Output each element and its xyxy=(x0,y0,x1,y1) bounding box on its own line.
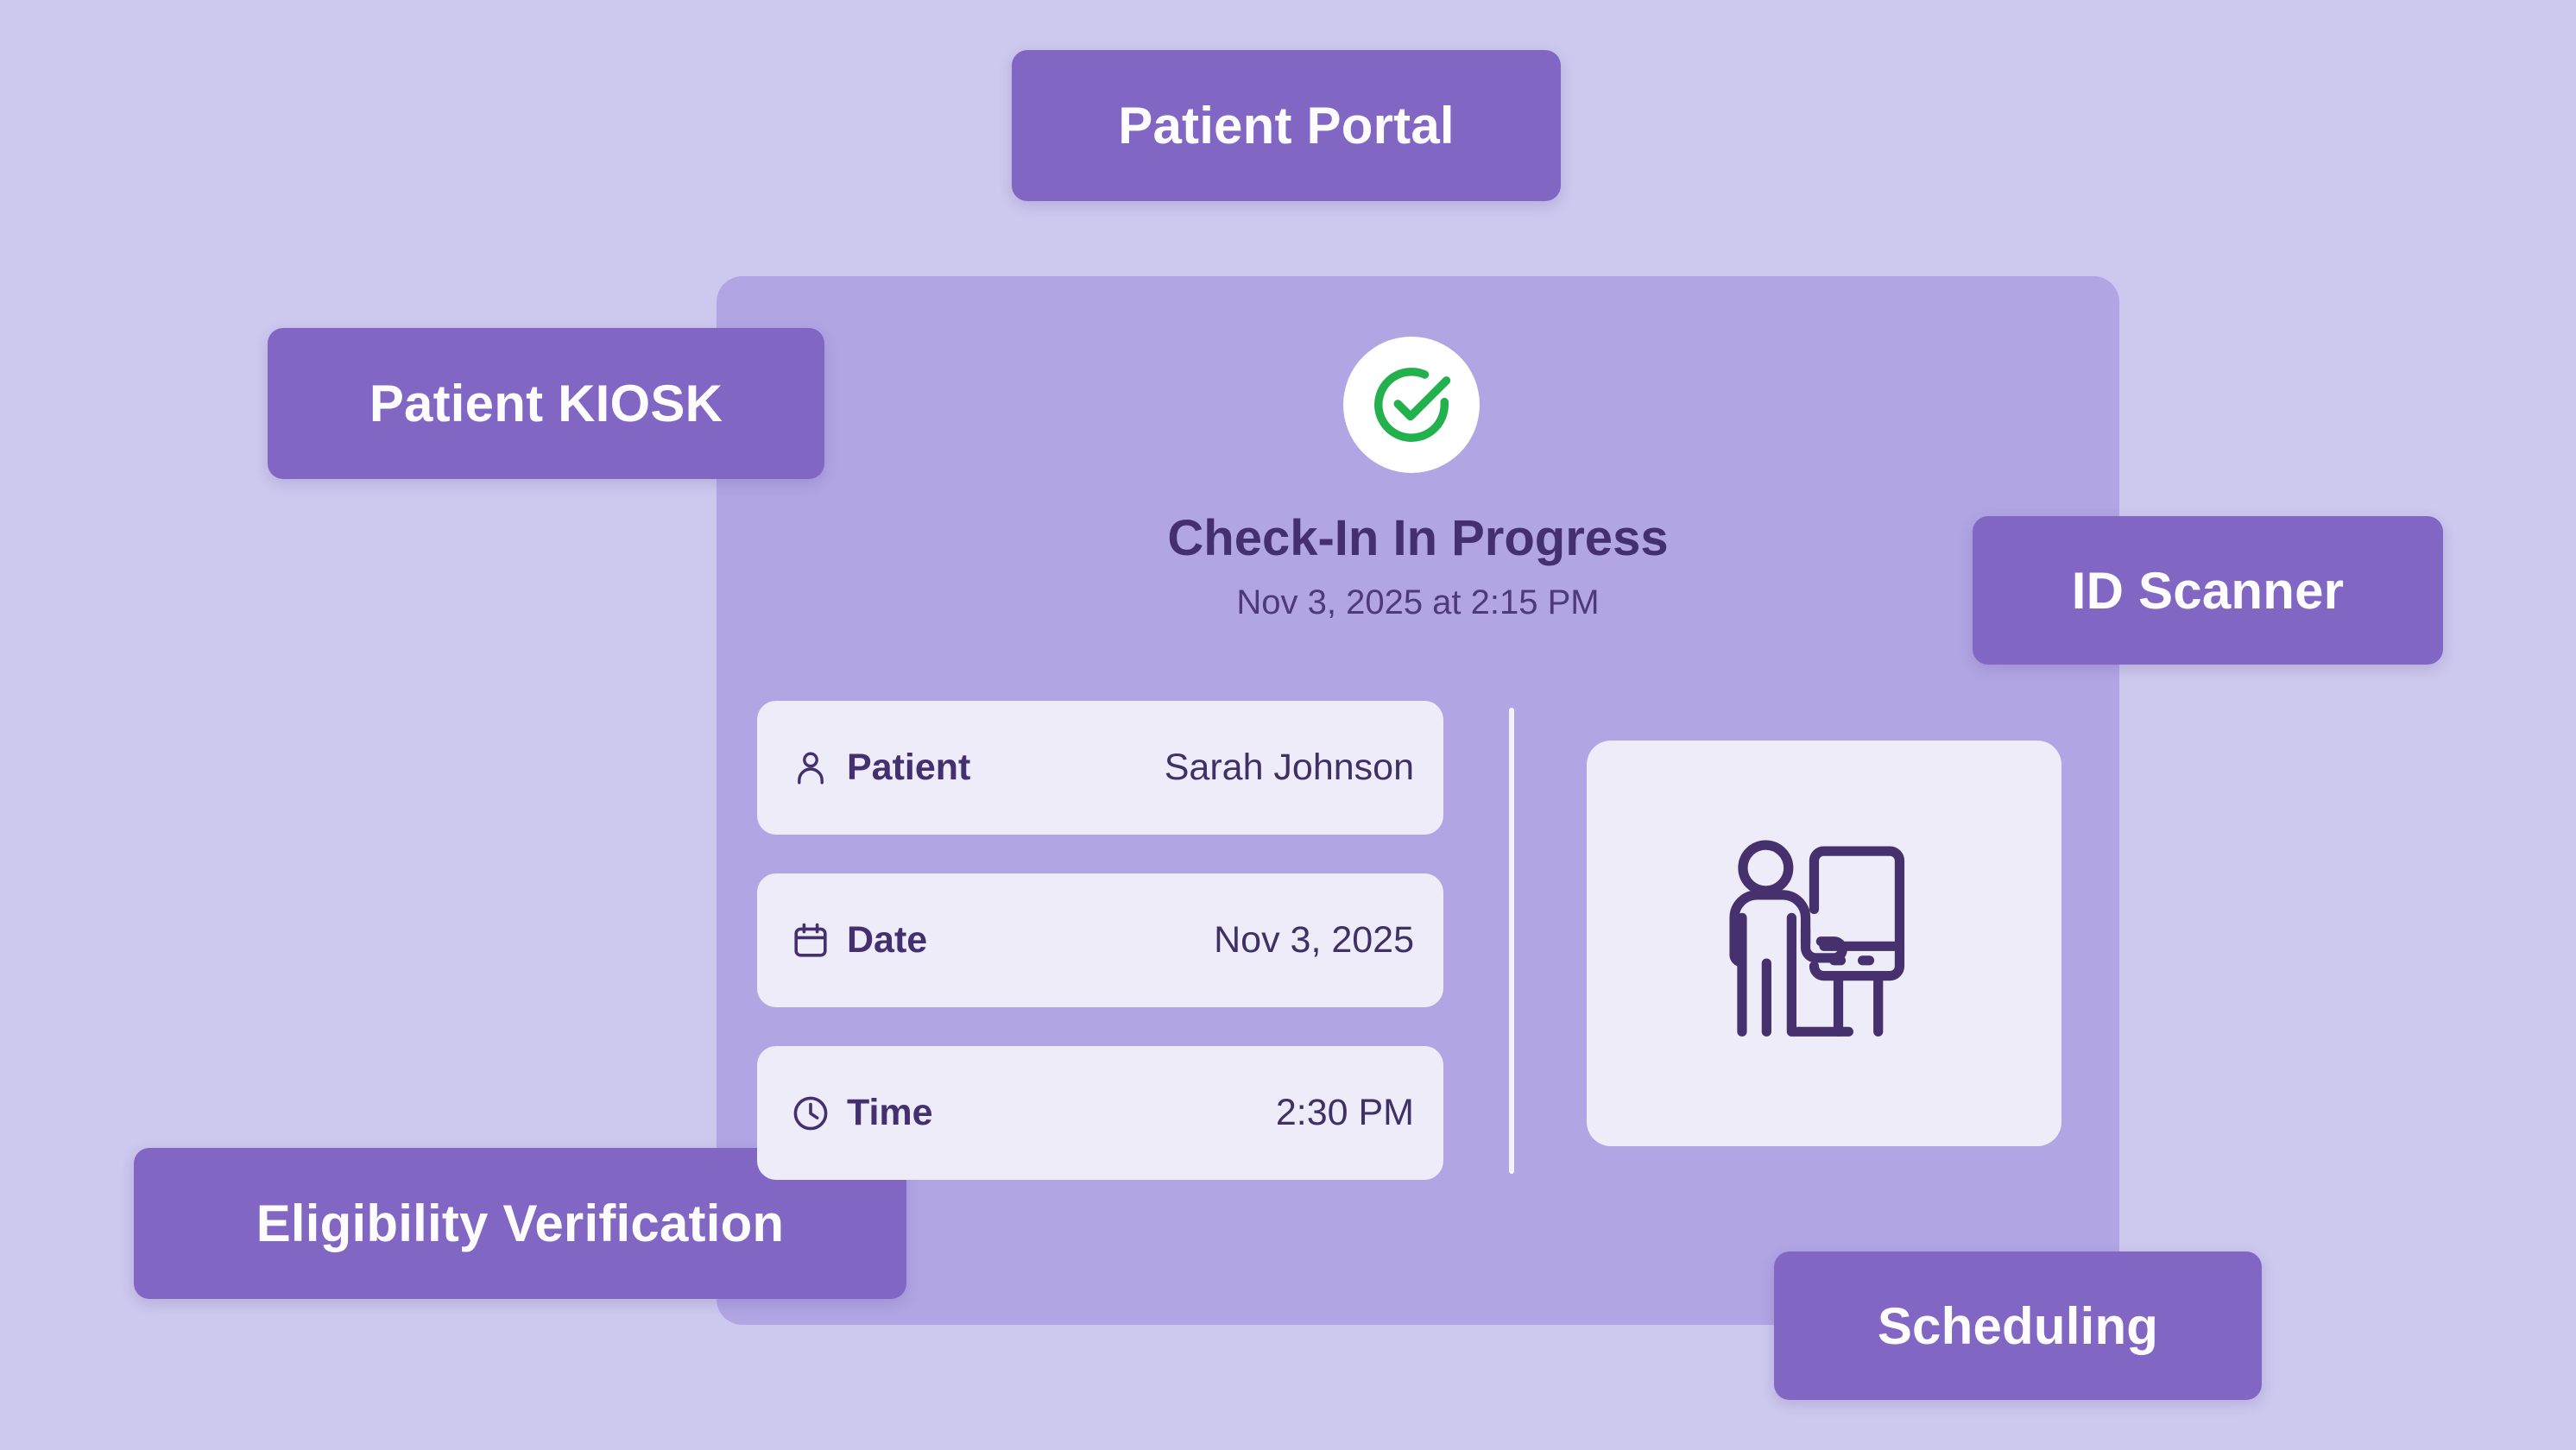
appointment-details-list: Patient Sarah Johnson Date Nov 3, 2025 xyxy=(757,701,1443,1219)
clock-icon xyxy=(790,1093,838,1134)
kiosk-illustration-tile xyxy=(1587,741,2061,1146)
screen-root: Patient Portal Patient KIOSK ID Scanner … xyxy=(0,0,2576,1450)
section-divider xyxy=(1509,708,1514,1174)
detail-value-date: Nov 3, 2025 xyxy=(1214,919,1414,961)
detail-value-patient: Sarah Johnson xyxy=(1165,747,1414,789)
detail-value-time: 2:30 PM xyxy=(1276,1092,1414,1134)
detail-row-date[interactable]: Date Nov 3, 2025 xyxy=(757,873,1443,1007)
check-circle-icon xyxy=(1365,358,1458,451)
chip-patient-kiosk-label: Patient KIOSK xyxy=(369,374,723,433)
patient-kiosk-illustration xyxy=(1682,801,1967,1086)
chip-scheduling[interactable]: Scheduling xyxy=(1774,1251,2262,1400)
detail-label-patient: Patient xyxy=(847,747,970,789)
calendar-icon xyxy=(790,920,838,961)
status-badge xyxy=(1343,337,1480,473)
chip-eligibility-verification-label: Eligibility Verification xyxy=(256,1194,785,1253)
chip-scheduling-label: Scheduling xyxy=(1878,1296,2158,1356)
detail-row-patient[interactable]: Patient Sarah Johnson xyxy=(757,701,1443,835)
detail-row-time[interactable]: Time 2:30 PM xyxy=(757,1046,1443,1180)
card-timestamp: Nov 3, 2025 at 2:15 PM xyxy=(717,583,2119,622)
person-icon xyxy=(790,747,838,789)
chip-patient-kiosk[interactable]: Patient KIOSK xyxy=(268,328,824,479)
detail-label-time: Time xyxy=(847,1092,933,1134)
detail-label-date: Date xyxy=(847,919,927,961)
page-title: Check-In In Progress xyxy=(717,509,2119,567)
chip-patient-portal-label: Patient Portal xyxy=(1118,96,1455,155)
chip-patient-portal[interactable]: Patient Portal xyxy=(1012,50,1561,201)
